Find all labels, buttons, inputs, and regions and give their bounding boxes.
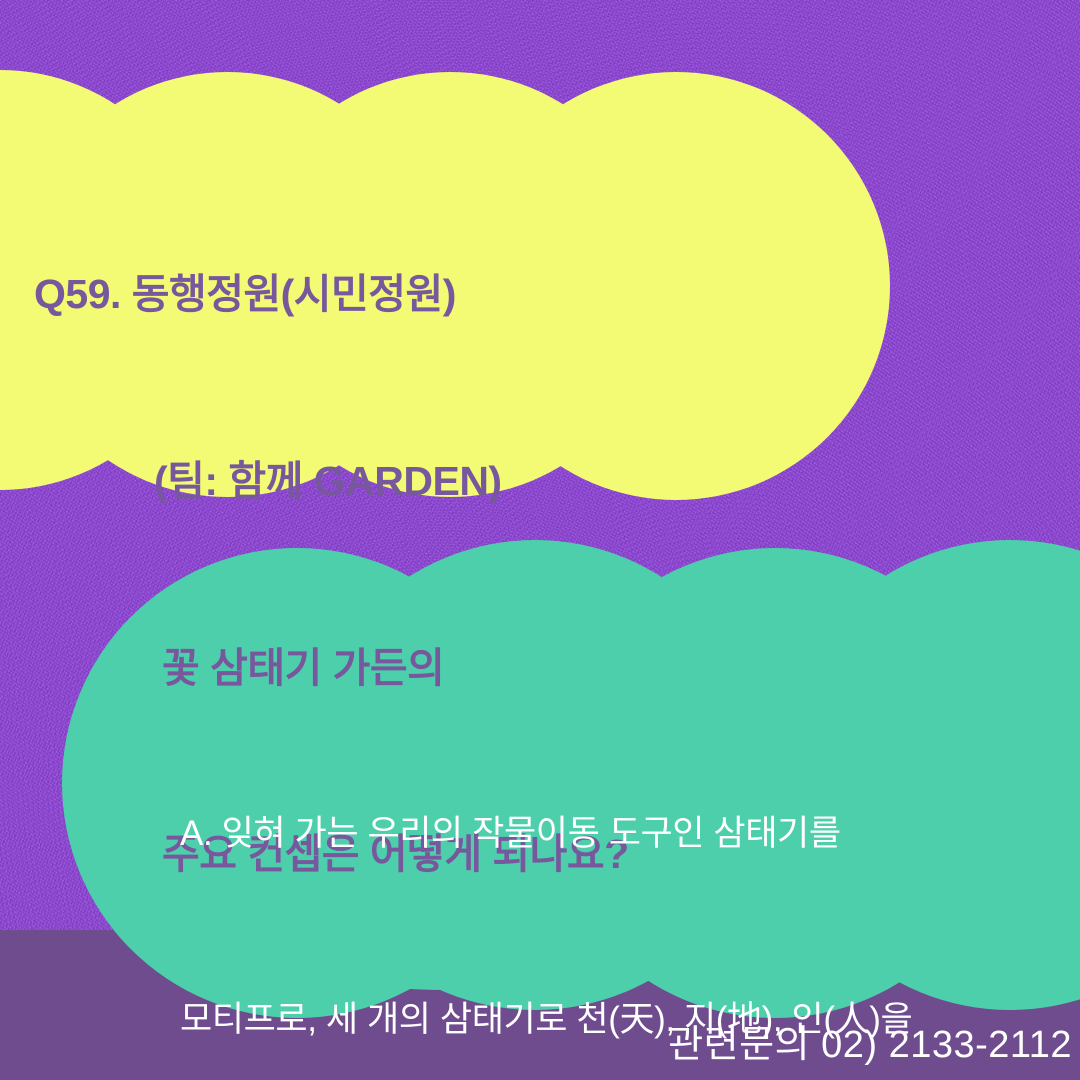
question-line-2: (팀: 함께 GARDEN) xyxy=(34,450,864,512)
answer-line-1: A. 잊혀 가는 우리의 작물이동 도구인 삼태기를 xyxy=(180,803,1030,865)
contact-info: 관련문의 02) 2133-2112 xyxy=(668,1013,1072,1068)
qa-card: Q59. 동행정원(시민정원) (팀: 함께 GARDEN) 꽃 삼태기 가든의… xyxy=(0,0,1080,1080)
question-line-1: Q59. 동행정원(시민정원) xyxy=(34,263,864,325)
